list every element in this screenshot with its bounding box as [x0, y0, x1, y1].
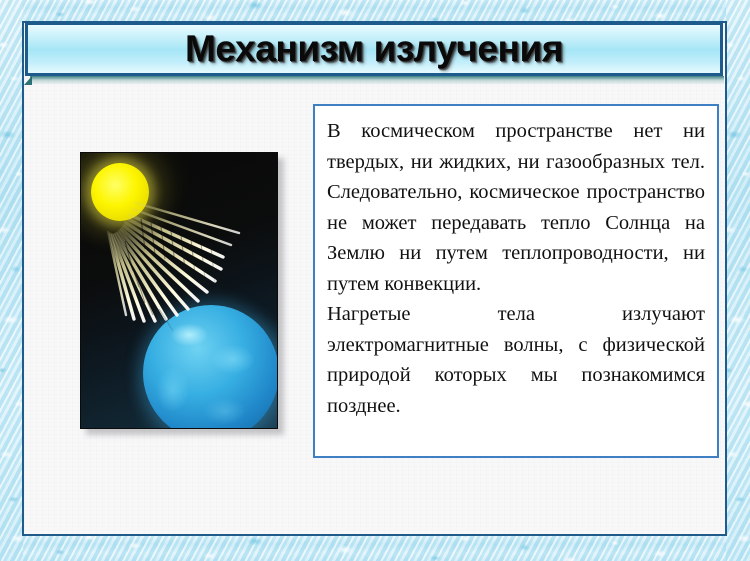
border-texture-top — [0, 0, 750, 22]
body-paragraph-2: Нагретые тела излучают электромагнитные … — [327, 299, 705, 421]
slide-canvas: Механизм излучения — [0, 0, 750, 561]
title-banner: Механизм излучения — [25, 22, 723, 76]
title-banner-shadow — [30, 76, 724, 85]
body-text-box: В космическом пространстве нет ни тверды… — [313, 104, 719, 458]
radiation-rays-icon — [81, 153, 278, 429]
border-texture-right — [726, 0, 750, 561]
illustration-figure — [80, 152, 278, 429]
illustration-sun-rays-earth — [80, 152, 278, 429]
page-title: Механизм излучения — [185, 28, 563, 70]
border-texture-left — [0, 0, 23, 561]
border-texture-bottom — [0, 535, 750, 561]
body-paragraph-1: В космическом пространстве нет ни тверды… — [327, 116, 705, 299]
